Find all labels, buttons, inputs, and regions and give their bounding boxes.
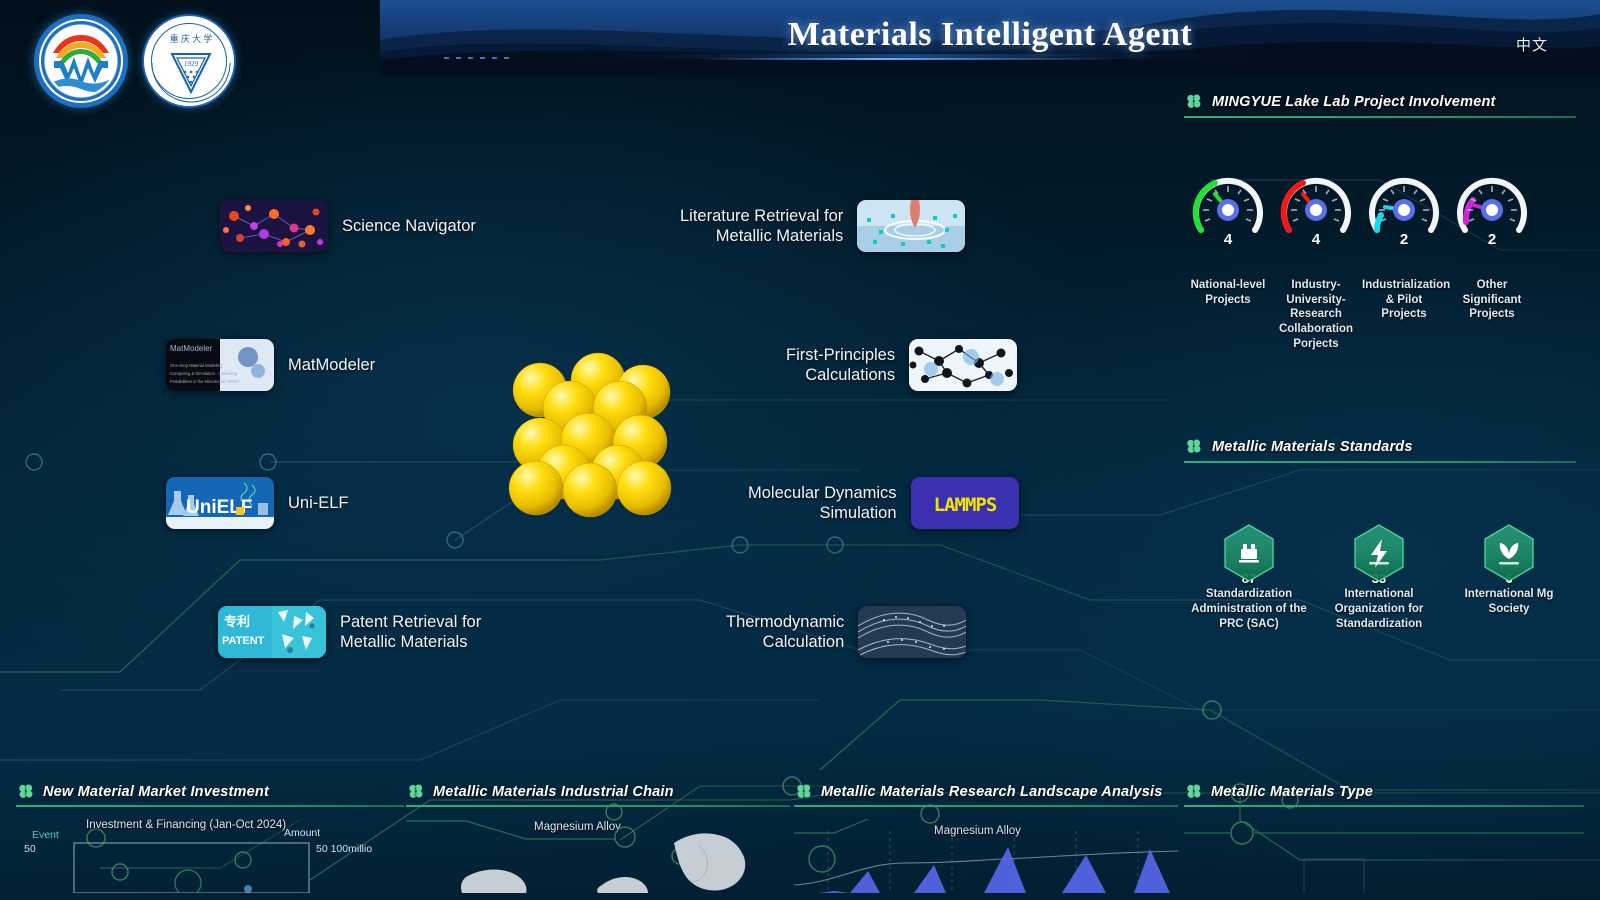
module-label: Patent Retrieval for Metallic Materials xyxy=(340,612,481,653)
science-navigator-thumbnail xyxy=(220,200,328,252)
clover-icon xyxy=(406,782,425,801)
panel-header: Metallic Materials Type xyxy=(1184,782,1584,805)
gauge-industrialization-pilot[interactable]: 2 xyxy=(1360,166,1448,246)
module-molecular-dynamics[interactable]: LAMMPS Molecular Dynamics Simulation xyxy=(748,477,1019,529)
research-landscape-chart[interactable]: Magnesium Alloy xyxy=(794,819,1178,893)
panel-divider xyxy=(1184,461,1576,463)
gauge-other-significant[interactable]: 2 xyxy=(1448,166,1536,246)
uni-elf-thumbnail: UniELF xyxy=(166,477,274,529)
module-label: Molecular Dynamics Simulation xyxy=(748,483,897,524)
gauge-icon: 2 xyxy=(1452,166,1532,246)
clover-icon xyxy=(794,782,813,801)
module-literature-retrieval[interactable]: Literature Retrieval for Metallic Materi… xyxy=(680,200,965,252)
gauge-value: 4 xyxy=(1312,231,1321,246)
standard-label: International Mg Society xyxy=(1445,587,1573,617)
standard-label: Standardization Administration of the PR… xyxy=(1185,587,1313,632)
standard-iso[interactable]: 33 International Organization for Standa… xyxy=(1314,521,1444,632)
gauge-value: 2 xyxy=(1400,231,1408,246)
industrial-chain-map[interactable]: Magnesium Alloy xyxy=(406,819,790,893)
standard-sac[interactable]: 87 Standardization Administration of the… xyxy=(1184,521,1314,632)
module-first-principles[interactable]: First-Principles Calculations xyxy=(786,339,1017,391)
module-label: Literature Retrieval for Metallic Materi… xyxy=(680,206,843,247)
panel-header: Metallic Materials Research Landscape An… xyxy=(794,782,1178,805)
first-principles-thumbnail xyxy=(909,339,1017,391)
panel-industrial-chain: Metallic Materials Industrial Chain Magn… xyxy=(406,782,790,900)
clover-icon xyxy=(1184,782,1203,801)
gauge-label-row: National-level Projects Industry-Univers… xyxy=(1184,248,1576,352)
panel-project-involvement: MINGYUE Lake Lab Project Involvement xyxy=(1184,92,1576,352)
hex-badge xyxy=(1479,521,1539,587)
lammps-thumbnail: LAMMPS xyxy=(911,477,1019,529)
panel-divider xyxy=(406,805,790,807)
gauge-caption: Industry-University-Research Collaborati… xyxy=(1274,278,1358,352)
svg-text:PATENT: PATENT xyxy=(222,635,265,647)
panel-materials-type: Metallic Materials Type xyxy=(1184,782,1584,900)
matmodeler-thumbnail: MatModeler One-Stop Material Modeling, C… xyxy=(166,339,274,391)
panel-research-landscape: Metallic Materials Research Landscape An… xyxy=(794,782,1178,900)
gauge-icon: 4 xyxy=(1188,166,1268,246)
panel-title: Metallic Materials Industrial Chain xyxy=(433,784,674,800)
svg-text:Possibilities in the Microscop: Possibilities in the Microscopic World xyxy=(170,379,239,384)
gauge-icon: 2 xyxy=(1364,166,1444,246)
module-thermodynamic[interactable]: Thermodynamic Calculation xyxy=(726,606,966,658)
gauge-caption: National-level Projects xyxy=(1186,278,1270,352)
panel-title: Metallic Materials Standards xyxy=(1212,439,1413,455)
gauge-industry-university[interactable]: 4 xyxy=(1272,166,1360,246)
crystal-structure-graphic xyxy=(500,350,680,520)
clover-icon xyxy=(16,782,35,801)
panel-title: Metallic Materials Type xyxy=(1211,784,1373,800)
svg-text:1929: 1929 xyxy=(184,60,199,68)
panel-market-investment: New Material Market Investment Investmen… xyxy=(16,782,404,900)
panel-header: MINGYUE Lake Lab Project Involvement xyxy=(1184,92,1576,116)
investment-chart[interactable]: Investment & Financing (Jan-Oct 2024) Ev… xyxy=(16,819,404,893)
panel-header: New Material Market Investment xyxy=(16,782,404,805)
module-patent-retrieval[interactable]: 专利 PATENT Patent Retrieval for Metallic … xyxy=(218,606,481,658)
gauge-value: 2 xyxy=(1488,231,1496,246)
module-label: MatModeler xyxy=(288,355,375,375)
standard-mg-society[interactable]: 6 International Mg Society xyxy=(1444,521,1574,632)
gauge-caption: Other Significant Projects xyxy=(1450,278,1534,352)
area-chart-svg xyxy=(794,819,1178,893)
svg-text:MatModeler: MatModeler xyxy=(170,344,213,353)
language-toggle-button[interactable]: 中文 xyxy=(1516,34,1548,55)
svg-text:LAMMPS: LAMMPS xyxy=(933,494,996,516)
panel-title: MINGYUE Lake Lab Project Involvement xyxy=(1212,94,1496,110)
standard-label: International Organization for Standardi… xyxy=(1315,587,1443,632)
clover-icon xyxy=(1184,437,1203,456)
thermodynamic-thumbnail xyxy=(858,606,966,658)
gauge-row: 4 4 xyxy=(1184,166,1576,246)
panel-header: Metallic Materials Standards xyxy=(1184,437,1576,461)
module-label: First-Principles Calculations xyxy=(786,345,895,386)
svg-text:One-Stop Material Modeling,: One-Stop Material Modeling, xyxy=(170,363,223,368)
panel-title: New Material Market Investment xyxy=(43,784,269,800)
module-science-navigator[interactable]: Science Navigator xyxy=(220,200,476,252)
cqu-crest-icon: 重 庆 大 学 1929 xyxy=(144,16,238,110)
module-matmodeler[interactable]: MatModeler One-Stop Material Modeling, C… xyxy=(166,339,375,391)
panel-divider xyxy=(16,805,404,807)
panel-title: Metallic Materials Research Landscape An… xyxy=(821,784,1163,800)
gauge-caption: Industrialization & Pilot Projects xyxy=(1362,278,1446,352)
literature-retrieval-thumbnail xyxy=(857,200,965,252)
logo-mark-icon xyxy=(47,27,115,95)
patent-retrieval-thumbnail: 专利 PATENT xyxy=(218,606,326,658)
logo-inner-disc xyxy=(47,27,115,95)
module-label: Science Navigator xyxy=(342,216,476,236)
panel-materials-standards: Metallic Materials Standards 87 St xyxy=(1184,437,1576,632)
map-shape xyxy=(461,833,745,893)
module-label: Thermodynamic Calculation xyxy=(726,612,844,653)
dashboard-stage: Materials Intelligent Agent 中文 重 庆 大 学 xyxy=(0,0,1600,900)
clover-icon xyxy=(1184,92,1203,111)
hex-badge xyxy=(1219,521,1279,587)
svg-text:重 庆 大 学: 重 庆 大 学 xyxy=(170,33,213,44)
module-label: Uni-ELF xyxy=(288,493,349,513)
gauge-national-level[interactable]: 4 xyxy=(1184,166,1272,246)
mingyue-lake-lab-logo[interactable] xyxy=(34,14,128,108)
logo-group: 重 庆 大 学 1929 xyxy=(34,14,236,108)
materials-type-chart[interactable] xyxy=(1184,819,1584,893)
panel-divider xyxy=(794,805,1178,807)
gauge-value: 4 xyxy=(1224,231,1233,246)
hex-badge xyxy=(1349,521,1409,587)
svg-text:Computing & Simulation · Unloc: Computing & Simulation · Unlocking xyxy=(170,371,238,376)
chongqing-university-logo[interactable]: 重 庆 大 学 1929 xyxy=(142,14,236,108)
page-title: Materials Intelligent Agent xyxy=(380,16,1600,54)
gauge-icon: 4 xyxy=(1276,166,1356,246)
panel-divider xyxy=(1184,116,1576,118)
standards-row: 87 Standardization Administration of the… xyxy=(1184,521,1576,632)
panel-divider xyxy=(1184,805,1584,807)
module-uni-elf[interactable]: UniELF Uni-ELF xyxy=(166,477,349,529)
svg-text:专利: 专利 xyxy=(224,614,250,629)
panel-header: Metallic Materials Industrial Chain xyxy=(406,782,790,805)
